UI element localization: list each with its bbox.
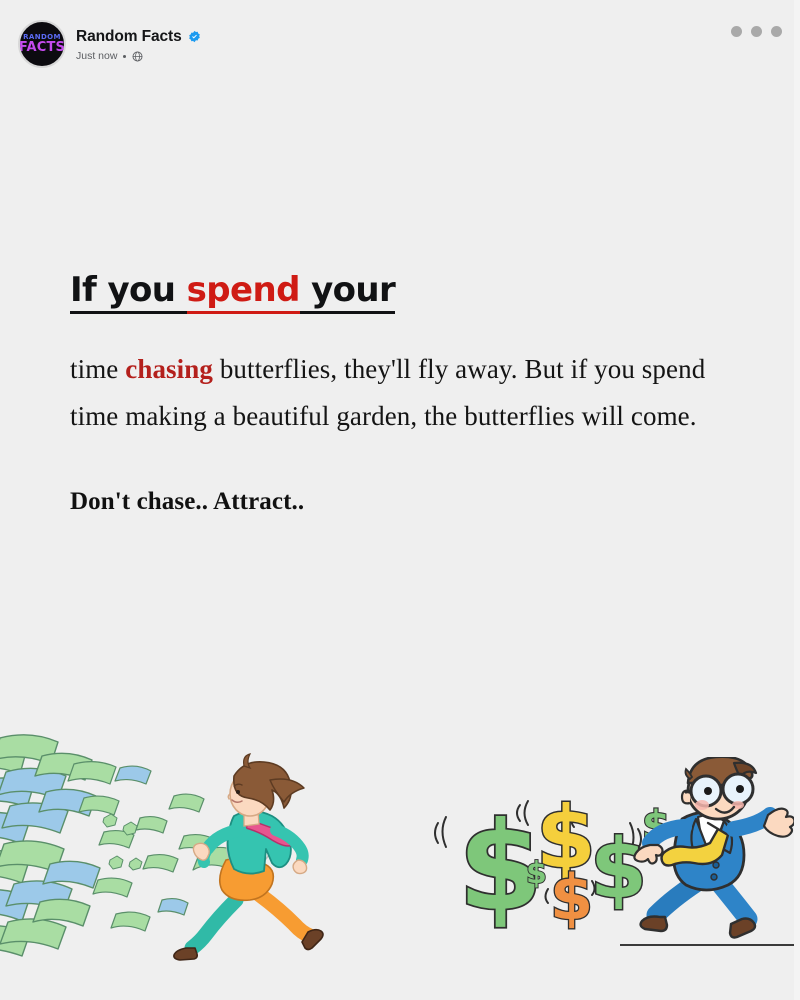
svg-text:$: $ — [550, 861, 593, 934]
author-name[interactable]: Random Facts — [76, 28, 182, 46]
avatar-label-bottom: FACTS — [19, 41, 65, 55]
running-woman-figure — [174, 754, 323, 960]
headline-highlight: spend — [187, 270, 300, 314]
post-content: If you spend your time chasing butterfli… — [70, 268, 730, 516]
more-dot-2 — [751, 26, 762, 37]
dollar-sign-medium-green: $ — [590, 822, 647, 917]
headline-part-2: your — [300, 270, 395, 314]
post-timestamp[interactable]: Just now — [76, 50, 117, 62]
running-businessman-figure — [634, 757, 794, 938]
paragraph-lead: time — [70, 354, 125, 384]
headline-part-1: If you — [70, 270, 187, 314]
dollar-sign-tiny-green: $ — [526, 856, 547, 891]
svg-text:$: $ — [526, 856, 547, 891]
post-card: RANDOM FACTS Random Facts Just now — [0, 0, 800, 1000]
dollar-signs-group: $ $ $ $ $ $ — [435, 788, 670, 938]
illustration-strip: $ $ $ $ $ $ — [0, 730, 800, 1000]
svg-text:$: $ — [590, 822, 647, 917]
post-closing-line: Don't chase.. Attract.. — [70, 488, 730, 516]
paragraph-accent-word: chasing — [125, 354, 213, 384]
more-options-icon[interactable] — [731, 26, 782, 37]
dollar-sign-orange: $ — [550, 861, 593, 934]
more-dot-1 — [731, 26, 742, 37]
man-running-ahead-of-dollar-signs-illustration: $ $ $ $ $ $ — [424, 757, 794, 972]
post-paragraph: time chasing butterflies, they'll fly aw… — [70, 346, 730, 440]
woman-running-from-flying-money-illustration — [0, 732, 388, 982]
globe-icon[interactable] — [132, 51, 143, 62]
headline: If you spend your — [70, 268, 730, 312]
author-name-row: Random Facts — [76, 27, 201, 46]
avatar[interactable]: RANDOM FACTS — [18, 20, 66, 68]
post-header: RANDOM FACTS Random Facts Just now — [0, 0, 800, 88]
more-dot-3 — [771, 26, 782, 37]
verified-check-icon — [188, 30, 201, 43]
dot-icon — [123, 55, 126, 58]
post-meta-row: Just now — [76, 49, 201, 63]
post-author-block: Random Facts Just now — [76, 27, 201, 63]
